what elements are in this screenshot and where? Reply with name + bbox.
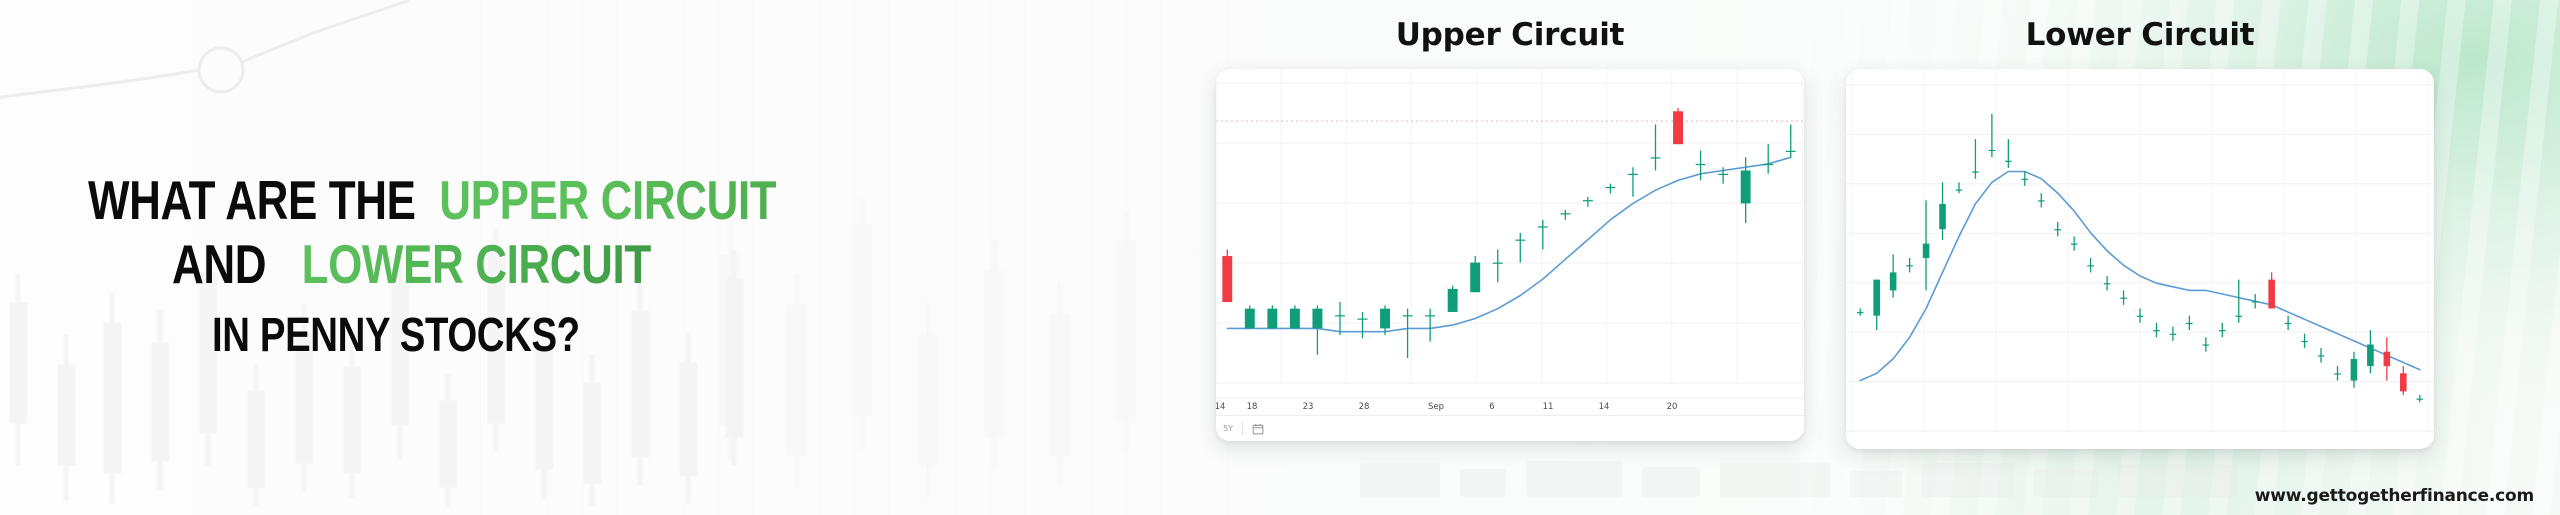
svg-text:11: 11 (1543, 402, 1554, 412)
timeframe-label[interactable]: 5Y (1223, 424, 1233, 433)
calendar-icon[interactable] (1252, 423, 1264, 435)
headline-line-3-plain: IN PENNY STOCKS? (212, 309, 580, 362)
upper-circuit-candlestick-chart[interactable]: 14182328Sep6111420 (1216, 69, 1804, 441)
lower-chart-gridlines (1846, 69, 2434, 431)
svg-text:14: 14 (1216, 402, 1225, 412)
svg-text:20: 20 (1667, 402, 1678, 412)
banner-root: WHAT ARE THE UPPER CIRCUIT AND LOWER CIR… (0, 0, 2560, 515)
footer-divider (1242, 422, 1243, 435)
headline-line-2-plain: AND (172, 233, 266, 295)
svg-text:18: 18 (1247, 402, 1258, 412)
headline-block: WHAT ARE THE UPPER CIRCUIT AND LOWER CIR… (0, 0, 720, 515)
upper-chart-footer-toolbar[interactable]: 5Y (1216, 415, 1804, 441)
lower-circuit-title: Lower Circuit (1840, 0, 2440, 53)
svg-text:14: 14 (1599, 402, 1610, 412)
headline-line-2: AND LOWER CIRCUIT (172, 238, 610, 291)
headline-accent-upper-circuit: UPPER CIRCUIT (439, 169, 776, 231)
website-url[interactable]: www.gettogetherfinance.com (2255, 486, 2534, 506)
lower-circuit-block: Lower Circuit (1840, 0, 2440, 515)
upper-chart-x-axis-labels: 14182328Sep6111420 (1216, 398, 1804, 412)
lower-circuit-candlestick-chart[interactable] (1846, 69, 2434, 449)
headline-line-3: IN PENNY STOCKS? (212, 313, 618, 359)
headline-accent-lower-circuit: LOWER CIRCUIT (302, 233, 651, 295)
upper-chart-candles (1222, 108, 1795, 358)
background-candlestick-watermark-secondary (700, 185, 1180, 515)
upper-chart-gridlines (1216, 69, 1804, 383)
headline-line-1-plain: WHAT ARE THE (88, 169, 416, 231)
svg-text:23: 23 (1303, 402, 1314, 412)
upper-circuit-chart-card[interactable]: 14182328Sep6111420 5Y (1216, 69, 1804, 441)
headline-line-1: WHAT ARE THE UPPER CIRCUIT (88, 174, 594, 227)
upper-circuit-title: Upper Circuit (1210, 0, 1810, 53)
svg-text:28: 28 (1359, 402, 1370, 412)
lower-circuit-chart-card[interactable] (1846, 69, 2434, 449)
upper-circuit-block: Upper Circuit 14182328Sep6111420 5Y (1210, 0, 1810, 515)
svg-text:6: 6 (1489, 402, 1494, 412)
svg-text:Sep: Sep (1428, 402, 1444, 412)
upper-chart-moving-average-line (1227, 157, 1790, 331)
